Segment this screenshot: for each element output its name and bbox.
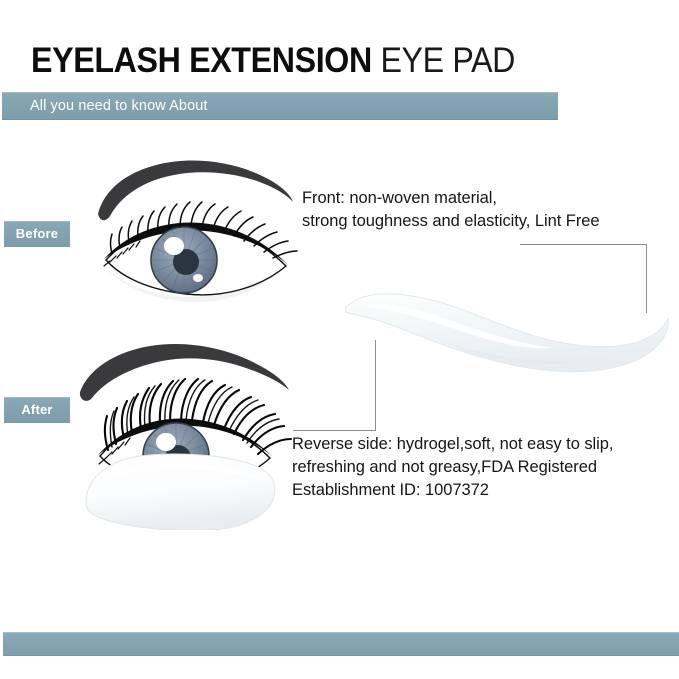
eye-highlight-small (193, 274, 203, 282)
page-title-strong: EYELASH EXTENSION (31, 41, 372, 80)
eye-pad-product-photo (340, 282, 670, 390)
callout-front: Front: non-woven material, strong toughn… (302, 187, 674, 233)
tag-before: Before (4, 221, 70, 247)
footer-band (3, 632, 679, 656)
eye-illustration-before (88, 142, 304, 302)
callout-reverse: Reverse side: hydrogel,soft, not easy to… (292, 433, 674, 502)
callout-reverse-line-1: Reverse side: hydrogel,soft, not easy to… (292, 433, 674, 456)
leader-line-reverse-vertical (375, 340, 376, 431)
eyebrow-shape (80, 344, 289, 401)
eye-highlight-main (164, 237, 184, 255)
page-title: EYELASH EXTENSION EYE PAD (31, 41, 515, 81)
eye-highlight-main (156, 433, 176, 451)
callout-front-line-1: Front: non-woven material, (302, 187, 674, 210)
callout-front-line-2: strong toughness and elasticity, Lint Fr… (302, 210, 674, 233)
tag-after: After (4, 397, 70, 423)
leader-line-reverse-horizontal (293, 430, 376, 431)
leader-line-front-horizontal (520, 244, 647, 245)
page-title-light-spacer (372, 41, 381, 80)
callout-reverse-line-2: refreshing and not greasy,FDA Registered (292, 456, 674, 479)
eye-illustration-after (74, 330, 314, 530)
page-title-light: EYE PAD (380, 41, 515, 80)
leader-line-front-vertical (646, 244, 647, 313)
product-infographic-page: EYELASH EXTENSION EYE PAD All you need t… (0, 0, 679, 679)
callout-reverse-line-3: Establishment ID: 1007372 (292, 479, 674, 502)
subtitle-text: All you need to know About (30, 96, 208, 116)
